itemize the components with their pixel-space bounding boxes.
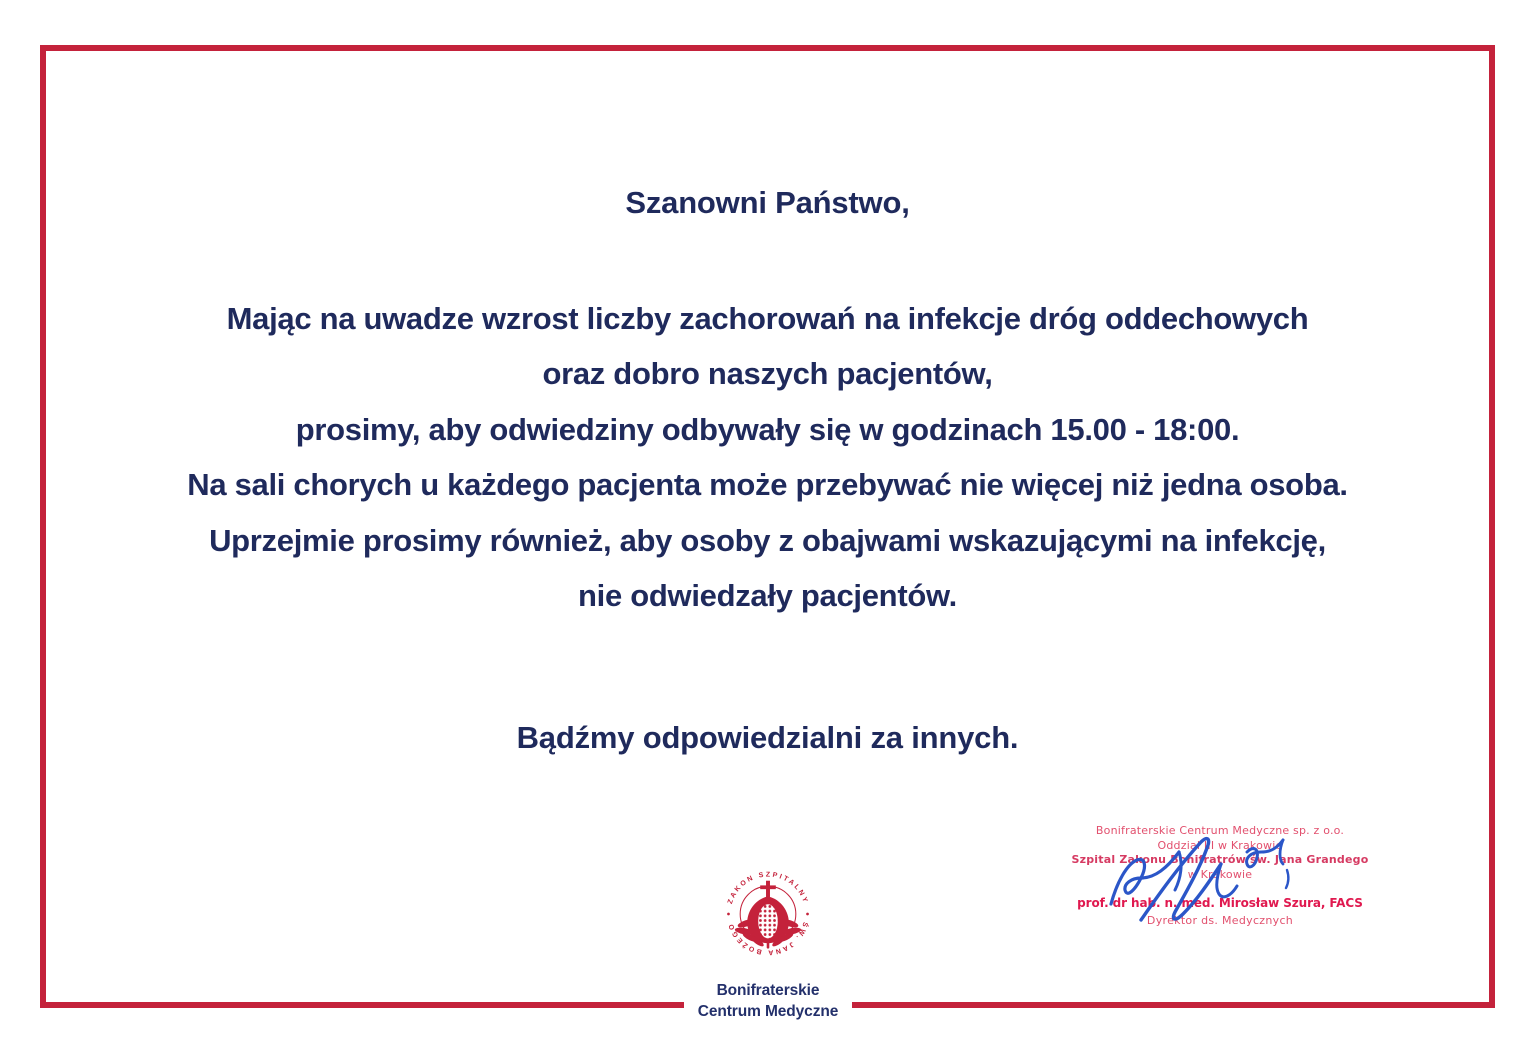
body-line-3: prosimy, aby odwiedziny odbywały się w g… <box>40 402 1495 457</box>
notice-content: Szanowni Państwo, Mając na uwadze wzrost… <box>40 45 1495 756</box>
pomegranate-cross-emblem-icon: ZAKON SZPITALNY ŚW. JANA BOŻEGO <box>716 862 820 966</box>
notice-body: Mając na uwadze wzrost liczby zachorowań… <box>40 221 1495 624</box>
border-bottom-right <box>849 1002 1495 1008</box>
logo-caption-line-1: Bonifraterskie <box>698 980 839 1001</box>
salutation: Szanowni Państwo, <box>40 45 1495 221</box>
body-line-4: Na sali chorych u każdego pacjenta może … <box>40 457 1495 512</box>
body-line-1: Mając na uwadze wzrost liczby zachorowań… <box>40 291 1495 346</box>
stamp-signer-name: prof. dr hab. n. med. Mirosław Szura, FA… <box>1055 896 1385 910</box>
svg-text:ZAKON SZPITALNY: ZAKON SZPITALNY <box>727 871 809 905</box>
logo-caption-line-2: Centrum Medyczne <box>698 1001 839 1022</box>
official-stamp: Bonifraterskie Centrum Medyczne sp. z o.… <box>1055 824 1385 936</box>
border-bottom-left <box>40 1002 685 1008</box>
stamp-line-4: w Krakowie <box>1055 868 1385 883</box>
stamp-line-1: Bonifraterskie Centrum Medyczne sp. z o.… <box>1055 824 1385 839</box>
closing-statement: Bądźmy odpowiedzialni za innych. <box>40 624 1495 756</box>
stamp-header: Bonifraterskie Centrum Medyczne sp. z o.… <box>1055 824 1385 882</box>
logo-caption: Bonifraterskie Centrum Medyczne <box>684 980 853 1022</box>
body-line-6: nie odwiedzały pacjentów. <box>40 568 1495 623</box>
stamp-line-2: Oddział III w Krakowie <box>1055 839 1385 854</box>
announcement-page: Szanowni Państwo, Mając na uwadze wzrost… <box>0 0 1536 1052</box>
svg-text:ŚW. JANA BOŻEGO: ŚW. JANA BOŻEGO <box>727 921 810 955</box>
stamp-signer-role: Dyrektor ds. Medycznych <box>1055 914 1385 927</box>
body-line-2: oraz dobro naszych pacjentów, <box>40 346 1495 401</box>
stamp-line-3: Szpital Zakonu Bonifratrów św. Jana Gran… <box>1055 853 1385 868</box>
body-line-5: Uprzejmie prosimy również, aby osoby z o… <box>40 513 1495 568</box>
